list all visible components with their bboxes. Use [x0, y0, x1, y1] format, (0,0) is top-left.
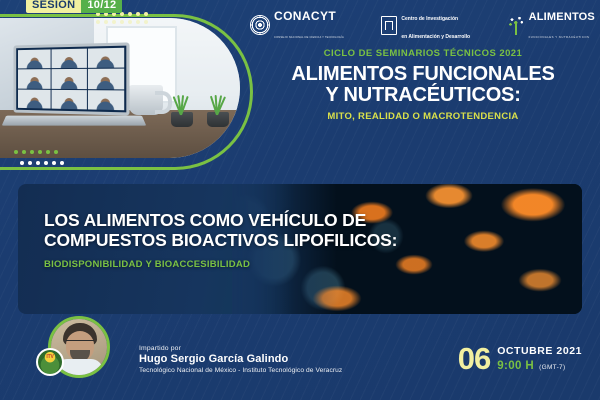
dot-grid-white [20, 161, 64, 165]
session-badge-label: SESIÓN [26, 0, 81, 13]
alimentos-molecule-icon [508, 15, 525, 35]
session-title-line-2: COMPUESTOS BIOACTIVOS LIPOFILICOS: [44, 230, 397, 250]
title-line-2: Y NUTRACÉUTICOS: [325, 84, 520, 106]
photo-plant-right [205, 97, 231, 127]
session-title: LOS ALIMENTOS COMO VEHÍCULO DE COMPUESTO… [44, 210, 444, 251]
speaker-name: Hugo Sergio García Galindo [139, 353, 342, 365]
photo-plant-left [169, 97, 195, 127]
hero-laptop-photo [0, 18, 240, 158]
speaker-intro: Impartido por [139, 345, 342, 352]
series-eyebrow: CICLO DE SEMINARIOS TÉCNICOS 2021 [252, 48, 594, 59]
speaker-affiliation: Tecnológico Nacional de México - Institu… [139, 367, 342, 374]
institution-badge-icon [36, 348, 64, 376]
event-timezone: (GMT-7) [539, 364, 565, 371]
ciad-book-icon [381, 16, 397, 35]
dot-grid-top [96, 12, 148, 24]
conacyt-subtitle: CONSEJO NACIONAL DE CIENCIA Y TECNOLOGÍA [274, 36, 344, 39]
date-block: 06 OCTUBRE 2021 9:00 H (GMT-7) [458, 345, 582, 374]
conacyt-title: CONACYT [274, 9, 336, 23]
alimentos-title: ALIMENTOS [529, 11, 595, 23]
alimentos-subtitle: FUNCIONALES Y NUTRACÉUTICOS [529, 35, 590, 39]
video-call-grid [13, 42, 129, 115]
title-line-1: ALIMENTOS FUNCIONALES [291, 63, 554, 85]
glasses-icon [66, 340, 94, 347]
conacyt-sphere-icon [250, 15, 270, 35]
title-subtitle: MITO, REALIDAD O MACROTENDENCIA [252, 111, 594, 122]
photo-mug [129, 85, 163, 115]
photo-laptop [10, 44, 134, 134]
logo-bar: CONACYT CONSEJO NACIONAL DE CIENCIA Y TE… [250, 8, 595, 42]
date-month-year: OCTUBRE 2021 [497, 346, 582, 358]
speaker-info: Impartido por Hugo Sergio García Galindo… [139, 345, 342, 374]
session-badge-count: 10/12 [81, 0, 122, 13]
ciad-line2: en Alimentación y Desarrollo [401, 34, 470, 40]
headline-block: CICLO DE SEMINARIOS TÉCNICOS 2021 ALIMEN… [252, 48, 594, 122]
logo-alimentos: ALIMENTOS FUNCIONALES Y NUTRACÉUTICOS [508, 7, 595, 43]
page-title: ALIMENTOS FUNCIONALES Y NUTRACÉUTICOS: [252, 64, 594, 106]
dot-grid-green [14, 150, 58, 154]
date-day: 06 [458, 345, 490, 374]
logo-ciad: Centro de Investigación en Alimentación … [381, 7, 470, 43]
event-time: 9:00 H [497, 360, 534, 372]
session-card: LOS ALIMENTOS COMO VEHÍCULO DE COMPUESTO… [18, 184, 582, 314]
session-title-line-1: LOS ALIMENTOS COMO VEHÍCULO DE [44, 210, 366, 230]
session-subtitle: BIODISPONIBILIDAD Y BIOACCESIBILIDAD [44, 259, 444, 270]
logo-conacyt: CONACYT CONSEJO NACIONAL DE CIENCIA Y TE… [250, 7, 344, 43]
ciad-line1: Centro de Investigación [401, 16, 458, 22]
seminar-poster: CONACYT CONSEJO NACIONAL DE CIENCIA Y TE… [0, 0, 600, 400]
status-badge: SESIÓN 10/12 [26, 0, 122, 13]
